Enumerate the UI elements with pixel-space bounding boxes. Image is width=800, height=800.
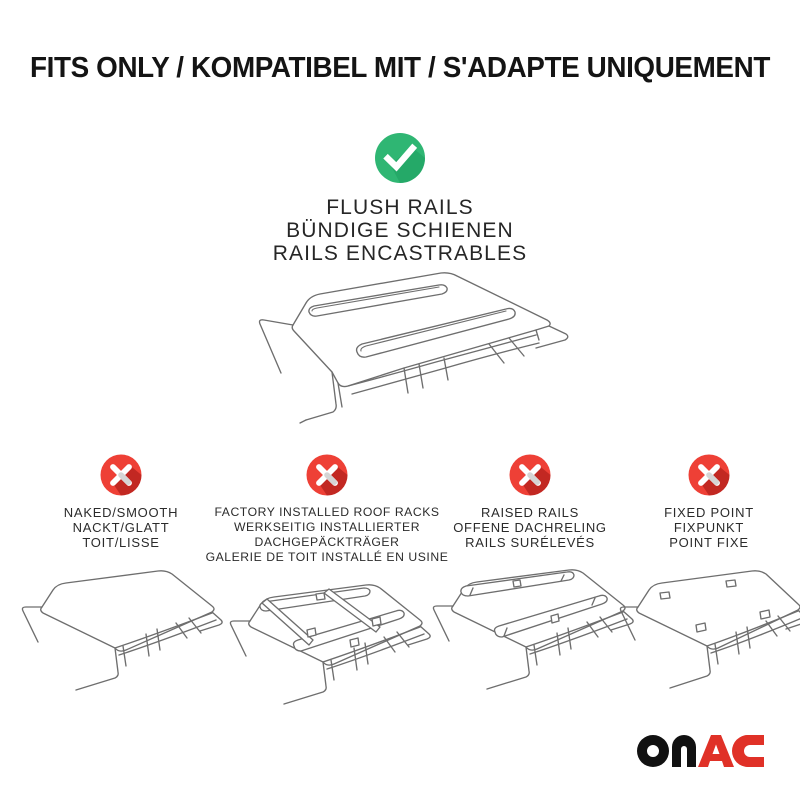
x-circle-icon xyxy=(306,454,348,496)
label-line-2: FIXPUNKT xyxy=(614,520,800,535)
compatible-label-de: BÜNDIGE SCHIENEN xyxy=(0,219,800,242)
label-line-1: RAISED RAILS xyxy=(420,505,640,520)
compatible-label-en: FLUSH RAILS xyxy=(0,196,800,219)
incompatible-labels-raised-rails: RAISED RAILS OFFENE DACHRELING RAILS SUR… xyxy=(420,505,640,550)
compatible-labels: FLUSH RAILS BÜNDIGE SCHIENEN RAILS ENCAS… xyxy=(0,196,800,265)
label-line-1: FACTORY INSTALLED ROOF RACKS xyxy=(202,505,452,520)
compatible-label-fr: RAILS ENCASTRABLES xyxy=(0,242,800,265)
car-roof-fixed-points-illustration xyxy=(614,562,800,712)
page-title: FITS ONLY / KOMPATIBEL MIT / S'ADAPTE UN… xyxy=(16,52,784,85)
label-line-2: WERKSEITIG INSTALLIERTER xyxy=(202,520,452,535)
incompatible-item-factory-roof-racks: FACTORY INSTALLED ROOF RACKS WERKSEITIG … xyxy=(202,448,452,723)
omac-logo xyxy=(636,734,764,768)
label-line-2: OFFENE DACHRELING xyxy=(420,520,640,535)
x-circle-icon xyxy=(509,454,551,496)
compatible-section: FLUSH RAILS BÜNDIGE SCHIENEN RAILS ENCAS… xyxy=(0,132,800,265)
x-circle-icon xyxy=(100,454,142,496)
incompatible-labels-factory-roof-racks: FACTORY INSTALLED ROOF RACKS WERKSEITIG … xyxy=(202,505,452,565)
incompatible-labels-fixed-point: FIXED POINT FIXPUNKT POINT FIXE xyxy=(614,505,800,550)
label-line-3: DACHGEPÄCKTRÄGER xyxy=(202,535,452,550)
incompatible-item-raised-rails: RAISED RAILS OFFENE DACHRELING RAILS SUR… xyxy=(420,448,640,708)
x-circle-icon xyxy=(688,454,730,496)
label-line-3: POINT FIXE xyxy=(614,535,800,550)
car-roof-flush-rails-illustration xyxy=(236,268,576,433)
incompatible-item-fixed-point: FIXED POINT FIXPUNKT POINT FIXE xyxy=(614,448,800,712)
label-line-3: RAILS SURÉLEVÉS xyxy=(420,535,640,550)
label-line-2: NACKT/GLATT xyxy=(8,520,234,535)
incompatible-labels-naked-smooth: NAKED/SMOOTH NACKT/GLATT TOIT/LISSE xyxy=(8,505,234,550)
label-line-1: FIXED POINT xyxy=(614,505,800,520)
check-circle-icon xyxy=(374,132,426,184)
car-roof-factory-cross-bars-illustration xyxy=(202,573,452,723)
label-line-4: GALERIE DE TOIT INSTALLÉ EN USINE xyxy=(202,550,452,565)
car-roof-naked-smooth-illustration xyxy=(8,562,234,712)
car-roof-raised-rails-illustration xyxy=(420,558,640,708)
label-line-3: TOIT/LISSE xyxy=(8,535,234,550)
incompatible-item-naked-smooth: NAKED/SMOOTH NACKT/GLATT TOIT/LISSE xyxy=(8,448,234,712)
label-line-1: NAKED/SMOOTH xyxy=(8,505,234,520)
